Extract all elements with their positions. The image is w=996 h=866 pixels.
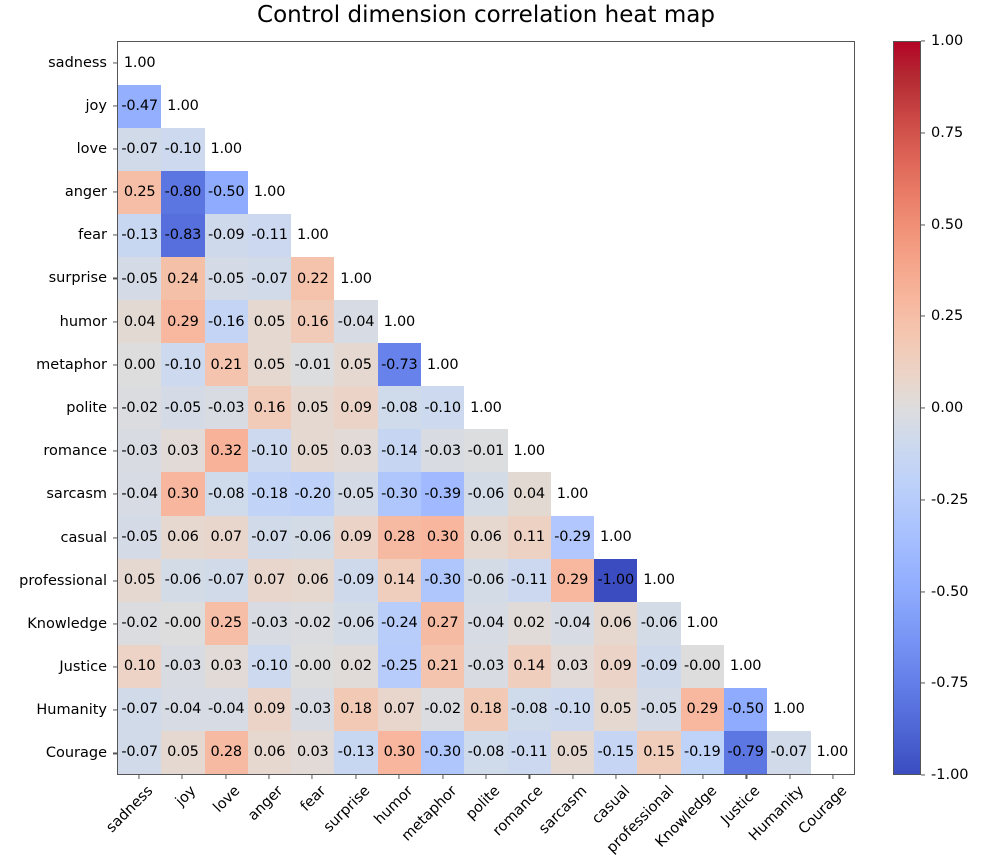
x-tick-mark (225, 775, 226, 779)
heatmap-cell: -0.03 (464, 645, 507, 688)
heatmap-cell-masked (508, 343, 551, 386)
heatmap-cell: -0.04 (334, 300, 377, 343)
heatmap-cell: 0.15 (637, 731, 680, 774)
colorbar-tick-mark (921, 591, 925, 592)
heatmap-cell-masked (637, 343, 680, 386)
heatmap-cell: 0.07 (378, 688, 421, 731)
heatmap-cell: 0.30 (421, 516, 464, 559)
x-tick-label: joy (173, 783, 200, 810)
heatmap-cell: 0.16 (248, 386, 291, 429)
x-tick-mark (355, 775, 356, 779)
heatmap-cell: -0.73 (378, 343, 421, 386)
heatmap-cell-masked (205, 42, 248, 85)
heatmap-cell-masked (767, 472, 810, 515)
colorbar: 1.000.750.500.250.00-0.25-0.50-0.75-1.00 (893, 41, 921, 775)
heatmap-cell: 0.05 (161, 731, 204, 774)
heatmap-cell-masked (551, 300, 594, 343)
heatmap-cell-masked (508, 171, 551, 214)
colorbar-tick-mark (921, 40, 925, 41)
colorbar-tick-mark (921, 499, 925, 500)
heatmap-cell: 1.00 (464, 386, 507, 429)
heatmap-cell-masked (594, 171, 637, 214)
heatmap-cell: -0.05 (161, 386, 204, 429)
heatmap-cell-masked (508, 386, 551, 429)
heatmap-cell-masked (594, 42, 637, 85)
heatmap-cell: -0.11 (508, 731, 551, 774)
heatmap-cell-masked (767, 171, 810, 214)
y-tick-label: joy (86, 98, 107, 114)
x-tick-mark (833, 775, 834, 779)
heatmap-cell: -0.25 (378, 645, 421, 688)
heatmap-cell-masked (681, 257, 724, 300)
heatmap-cell-masked (508, 128, 551, 171)
heatmap-row: 1.00 (118, 42, 854, 85)
heatmap-cell-masked (724, 85, 767, 128)
heatmap-cell: -0.06 (464, 559, 507, 602)
y-tick-label: polite (66, 400, 107, 416)
plot-area: 1.00-0.471.00-0.07-0.101.000.25-0.80-0.5… (117, 41, 855, 775)
heatmap-cell-masked (551, 386, 594, 429)
heatmap-cell: 0.06 (291, 559, 334, 602)
heatmap-cell: 1.00 (161, 85, 204, 128)
heatmap-cell-masked (291, 85, 334, 128)
heatmap-cell: -0.01 (291, 343, 334, 386)
heatmap-cell-masked (724, 386, 767, 429)
heatmap-cell: 1.00 (681, 602, 724, 645)
heatmap-cell: -0.07 (118, 731, 161, 774)
heatmap-cell-masked (811, 429, 855, 472)
heatmap-cell: 1.00 (291, 214, 334, 257)
colorbar-tick-label: -1.00 (931, 767, 969, 783)
heatmap-cell-masked (421, 171, 464, 214)
heatmap-cell-masked (464, 128, 507, 171)
heatmap-cell-masked (464, 42, 507, 85)
heatmap-cell-masked (767, 386, 810, 429)
heatmap-cell: 0.09 (248, 688, 291, 731)
heatmap-cell: 1.00 (334, 257, 377, 300)
heatmap-cell: 0.07 (205, 516, 248, 559)
heatmap-cell-masked (464, 171, 507, 214)
heatmap-cell-masked (767, 85, 810, 128)
heatmap-cell-masked (681, 171, 724, 214)
heatmap-cell: 0.09 (334, 516, 377, 559)
colorbar-tick-label: 0.75 (931, 125, 963, 141)
heatmap-cell: -0.09 (637, 645, 680, 688)
heatmap-cell-masked (637, 171, 680, 214)
heatmap-cell: -0.39 (421, 472, 464, 515)
x-tick-mark (485, 775, 486, 779)
heatmap-cell: 0.21 (421, 645, 464, 688)
heatmap-cell: 1.00 (118, 42, 161, 85)
y-tick-label: romance (43, 443, 107, 459)
heatmap-cell: -0.01 (464, 429, 507, 472)
heatmap-cell: -0.10 (248, 645, 291, 688)
heatmap-cell: -0.10 (161, 128, 204, 171)
heatmap-cell-masked (594, 257, 637, 300)
heatmap-cell-masked (681, 300, 724, 343)
x-tick-mark (138, 775, 139, 779)
x-axis: sadnessjoyloveangerfearsurprisehumormeta… (117, 775, 855, 866)
heatmap-cell-masked (811, 300, 855, 343)
heatmap-cell: -0.10 (421, 386, 464, 429)
heatmap-cell-masked (594, 300, 637, 343)
heatmap-cell-masked (291, 171, 334, 214)
colorbar-tick-label: -0.75 (931, 675, 969, 691)
heatmap-cell-masked (464, 257, 507, 300)
heatmap-cell: 0.03 (205, 645, 248, 688)
x-tick-mark (659, 775, 660, 779)
heatmap-row: -0.02-0.000.25-0.03-0.02-0.06-0.240.27-0… (118, 602, 854, 645)
heatmap-cell: 0.30 (161, 472, 204, 515)
heatmap-cell: -0.05 (334, 472, 377, 515)
correlation-heatmap-figure: Control dimension correlation heat map s… (0, 0, 996, 866)
heatmap-cell: -0.29 (551, 516, 594, 559)
heatmap-cell-masked (637, 85, 680, 128)
heatmap-cell: -0.16 (205, 300, 248, 343)
heatmap-cell-masked (551, 128, 594, 171)
heatmap-cell-masked (421, 214, 464, 257)
heatmap-cell-masked (681, 516, 724, 559)
colorbar-tick-label: -0.25 (931, 492, 969, 508)
heatmap-cell-masked (811, 559, 855, 602)
heatmap-cell-masked (551, 343, 594, 386)
x-tick-mark (529, 775, 530, 779)
heatmap-cell-masked (334, 171, 377, 214)
heatmap-cell-masked (637, 472, 680, 515)
heatmap-cell-masked (378, 214, 421, 257)
heatmap-cell-masked (811, 171, 855, 214)
x-tick-label: love (210, 783, 243, 816)
heatmap-cell: -0.20 (291, 472, 334, 515)
heatmap-cell: 1.00 (205, 128, 248, 171)
heatmap-cell: -0.80 (161, 171, 204, 214)
x-tick-mark (312, 775, 313, 779)
heatmap-cell: 0.10 (118, 645, 161, 688)
heatmap-cell-masked (508, 214, 551, 257)
heatmap-cell: -0.06 (334, 602, 377, 645)
heatmap-cell-masked (811, 386, 855, 429)
heatmap-cell-masked (724, 429, 767, 472)
heatmap-cell: 0.04 (118, 300, 161, 343)
heatmap-cell-masked (378, 42, 421, 85)
x-tick-mark (268, 775, 269, 779)
heatmap-cell: 0.14 (378, 559, 421, 602)
heatmap-cell: -0.00 (291, 645, 334, 688)
colorbar-tick-mark (921, 407, 925, 408)
heatmap-row: -0.13-0.83-0.09-0.111.00 (118, 214, 854, 257)
heatmap-cell-masked (724, 171, 767, 214)
heatmap-cell: -0.05 (118, 516, 161, 559)
y-tick-label: sadness (48, 55, 107, 71)
heatmap-cell: 0.03 (161, 429, 204, 472)
heatmap-cell-masked (681, 386, 724, 429)
y-tick-label: Humanity (36, 702, 107, 718)
heatmap-cell-masked (811, 42, 855, 85)
heatmap-cell-masked (811, 645, 855, 688)
heatmap-cell: 0.11 (508, 516, 551, 559)
colorbar-tick-mark (921, 774, 925, 775)
x-tick-label: polite (463, 783, 503, 823)
heatmap-cell-masked (378, 171, 421, 214)
heatmap-cell: -0.13 (334, 731, 377, 774)
heatmap-cell-masked (464, 343, 507, 386)
heatmap-cell: 0.02 (334, 645, 377, 688)
y-tick-label: surprise (49, 270, 107, 286)
heatmap-cell: 1.00 (508, 429, 551, 472)
heatmap-cell: 0.25 (205, 602, 248, 645)
heatmap-cell: -0.30 (421, 731, 464, 774)
heatmap-cell-masked (508, 300, 551, 343)
heatmap-cell: -0.07 (118, 128, 161, 171)
y-tick-label: professional (19, 573, 107, 589)
heatmap-cell: -0.04 (464, 602, 507, 645)
heatmap-cell-masked (508, 42, 551, 85)
heatmap-cell-masked (551, 42, 594, 85)
heatmap-grid: 1.00-0.471.00-0.07-0.101.000.25-0.80-0.5… (118, 42, 854, 774)
heatmap-cell-masked (811, 472, 855, 515)
y-tick-label: fear (78, 227, 107, 243)
heatmap-cell-masked (421, 300, 464, 343)
heatmap-cell: -0.00 (161, 602, 204, 645)
heatmap-cell: 0.05 (334, 343, 377, 386)
heatmap-cell-masked (811, 128, 855, 171)
x-tick-label: sadness (103, 783, 156, 836)
x-tick-mark (399, 775, 400, 779)
colorbar-tick-mark (921, 132, 925, 133)
heatmap-cell-masked (724, 516, 767, 559)
heatmap-cell: 0.05 (551, 731, 594, 774)
heatmap-cell-masked (767, 645, 810, 688)
heatmap-cell: 0.29 (161, 300, 204, 343)
heatmap-row: -0.050.24-0.05-0.070.221.00 (118, 257, 854, 300)
heatmap-cell: -0.06 (637, 602, 680, 645)
heatmap-cell: 0.06 (248, 731, 291, 774)
heatmap-cell: -0.15 (594, 731, 637, 774)
heatmap-cell: 0.05 (118, 559, 161, 602)
heatmap-row: 0.040.29-0.160.050.16-0.041.00 (118, 300, 854, 343)
heatmap-cell: -0.05 (637, 688, 680, 731)
heatmap-cell: 1.00 (421, 343, 464, 386)
heatmap-cell-masked (724, 343, 767, 386)
heatmap-cell: -0.05 (205, 257, 248, 300)
heatmap-cell-masked (334, 214, 377, 257)
heatmap-cell: -0.10 (551, 688, 594, 731)
heatmap-cell: -0.00 (681, 645, 724, 688)
heatmap-cell: 1.00 (378, 300, 421, 343)
heatmap-cell-masked (767, 257, 810, 300)
y-tick-label: Justice (59, 659, 107, 675)
heatmap-cell: -0.10 (248, 429, 291, 472)
heatmap-cell: -0.11 (248, 214, 291, 257)
heatmap-cell: 1.00 (724, 645, 767, 688)
heatmap-cell-masked (291, 42, 334, 85)
heatmap-cell-masked (811, 688, 855, 731)
heatmap-cell-masked (637, 214, 680, 257)
heatmap-row: -0.050.060.07-0.07-0.060.090.280.300.060… (118, 516, 854, 559)
heatmap-cell: -0.06 (464, 472, 507, 515)
heatmap-cell: -0.24 (378, 602, 421, 645)
heatmap-cell-masked (637, 429, 680, 472)
heatmap-cell: 0.09 (594, 645, 637, 688)
heatmap-cell: -0.03 (421, 429, 464, 472)
heatmap-row: -0.030.030.32-0.100.050.03-0.14-0.03-0.0… (118, 429, 854, 472)
heatmap-cell: -0.06 (291, 516, 334, 559)
heatmap-cell-masked (637, 257, 680, 300)
heatmap-cell: 0.22 (291, 257, 334, 300)
heatmap-cell: -0.79 (724, 731, 767, 774)
heatmap-cell-masked (551, 429, 594, 472)
page-title: Control dimension correlation heat map (117, 2, 855, 28)
heatmap-cell-masked (594, 472, 637, 515)
heatmap-row: -0.07-0.04-0.040.09-0.030.180.07-0.020.1… (118, 688, 854, 731)
heatmap-cell: -0.30 (378, 472, 421, 515)
y-axis: sadnessjoyloveangerfearsurprisehumormeta… (0, 41, 117, 775)
heatmap-cell-masked (637, 42, 680, 85)
heatmap-cell: 0.32 (205, 429, 248, 472)
heatmap-cell-masked (724, 300, 767, 343)
heatmap-cell-masked (681, 429, 724, 472)
colorbar-tick-label: 0.50 (931, 217, 963, 233)
y-tick-label: casual (60, 530, 107, 546)
heatmap-cell-masked (637, 386, 680, 429)
y-tick-label: love (77, 141, 107, 157)
heatmap-cell-masked (551, 85, 594, 128)
heatmap-cell: -0.19 (681, 731, 724, 774)
heatmap-cell: 0.27 (421, 602, 464, 645)
heatmap-cell-masked (724, 128, 767, 171)
y-tick-label: sarcasm (46, 486, 107, 502)
heatmap-cell-masked (681, 343, 724, 386)
heatmap-cell-masked (464, 214, 507, 257)
heatmap-cell: -0.07 (205, 559, 248, 602)
heatmap-cell-masked (724, 559, 767, 602)
heatmap-cell: -0.08 (205, 472, 248, 515)
heatmap-cell-masked (551, 214, 594, 257)
x-tick-mark (703, 775, 704, 779)
heatmap-cell-masked (681, 559, 724, 602)
heatmap-cell-masked (248, 42, 291, 85)
colorbar-tick-label: 1.00 (931, 33, 963, 49)
heatmap-cell: 0.06 (464, 516, 507, 559)
heatmap-cell: 0.04 (508, 472, 551, 515)
heatmap-cell-masked (378, 85, 421, 128)
heatmap-cell-masked (767, 42, 810, 85)
heatmap-cell-masked (551, 257, 594, 300)
heatmap-cell-masked (767, 300, 810, 343)
heatmap-cell: 1.00 (551, 472, 594, 515)
colorbar-tick-label: 0.25 (931, 308, 963, 324)
heatmap-cell-masked (248, 128, 291, 171)
heatmap-cell: -0.50 (205, 171, 248, 214)
x-tick-mark (442, 775, 443, 779)
heatmap-cell: -0.04 (118, 472, 161, 515)
heatmap-cell: 0.24 (161, 257, 204, 300)
x-tick-mark (572, 775, 573, 779)
heatmap-cell: -1.00 (594, 559, 637, 602)
colorbar-tick-label: 0.00 (931, 400, 963, 416)
heatmap-cell-masked (248, 85, 291, 128)
heatmap-cell-masked (378, 257, 421, 300)
heatmap-cell-masked (508, 85, 551, 128)
heatmap-cell: -0.03 (205, 386, 248, 429)
heatmap-cell: -0.10 (161, 343, 204, 386)
heatmap-cell: -0.03 (248, 602, 291, 645)
heatmap-cell-masked (421, 42, 464, 85)
heatmap-cell: -0.04 (205, 688, 248, 731)
heatmap-cell-masked (421, 128, 464, 171)
heatmap-cell: 0.03 (291, 731, 334, 774)
heatmap-cell: 0.14 (508, 645, 551, 688)
heatmap-cell-masked (594, 214, 637, 257)
heatmap-cell: 0.03 (334, 429, 377, 472)
y-tick-label: Knowledge (27, 616, 107, 632)
heatmap-cell: 1.00 (767, 688, 810, 731)
heatmap-cell-masked (724, 472, 767, 515)
heatmap-cell: -0.05 (118, 257, 161, 300)
heatmap-cell: 0.05 (594, 688, 637, 731)
heatmap-cell-masked (421, 257, 464, 300)
heatmap-cell-masked (811, 257, 855, 300)
heatmap-cell: 1.00 (594, 516, 637, 559)
heatmap-cell: -0.06 (161, 559, 204, 602)
heatmap-cell: -0.07 (767, 731, 810, 774)
heatmap-cell: -0.04 (161, 688, 204, 731)
heatmap-cell-masked (681, 472, 724, 515)
colorbar-tick-mark (921, 224, 925, 225)
heatmap-cell-masked (724, 42, 767, 85)
heatmap-cell-masked (637, 516, 680, 559)
heatmap-cell-masked (767, 214, 810, 257)
heatmap-cell-masked (811, 516, 855, 559)
y-tick-label: Courage (46, 745, 107, 761)
heatmap-cell: 0.07 (248, 559, 291, 602)
heatmap-cell: 0.09 (334, 386, 377, 429)
x-tick-mark (789, 775, 790, 779)
heatmap-cell: 0.21 (205, 343, 248, 386)
heatmap-cell-masked (811, 343, 855, 386)
heatmap-cell: -0.09 (205, 214, 248, 257)
heatmap-cell: -0.50 (724, 688, 767, 731)
heatmap-cell: -0.13 (118, 214, 161, 257)
heatmap-cell: 1.00 (248, 171, 291, 214)
heatmap-cell: 0.05 (291, 429, 334, 472)
colorbar-tick-label: -0.50 (931, 584, 969, 600)
heatmap-cell-masked (421, 85, 464, 128)
heatmap-cell-masked (767, 516, 810, 559)
heatmap-cell-masked (637, 300, 680, 343)
heatmap-cell-masked (594, 85, 637, 128)
colorbar-tick-mark (921, 316, 925, 317)
heatmap-cell: 0.29 (681, 688, 724, 731)
heatmap-cell-masked (594, 343, 637, 386)
heatmap-cell: -0.47 (118, 85, 161, 128)
heatmap-cell-masked (637, 128, 680, 171)
heatmap-row: 0.05-0.06-0.070.070.06-0.090.14-0.30-0.0… (118, 559, 854, 602)
heatmap-cell-masked (681, 42, 724, 85)
heatmap-row: -0.471.00 (118, 85, 854, 128)
heatmap-cell: -0.04 (551, 602, 594, 645)
colorbar-gradient (893, 41, 921, 775)
heatmap-row: -0.040.30-0.08-0.18-0.20-0.05-0.30-0.39-… (118, 472, 854, 515)
heatmap-cell-masked (291, 128, 334, 171)
heatmap-cell: -0.09 (334, 559, 377, 602)
heatmap-cell: -0.18 (248, 472, 291, 515)
heatmap-cell-masked (767, 343, 810, 386)
heatmap-cell-masked (594, 429, 637, 472)
y-tick-label: metaphor (36, 357, 107, 373)
heatmap-cell: -0.14 (378, 429, 421, 472)
heatmap-cell-masked (205, 85, 248, 128)
